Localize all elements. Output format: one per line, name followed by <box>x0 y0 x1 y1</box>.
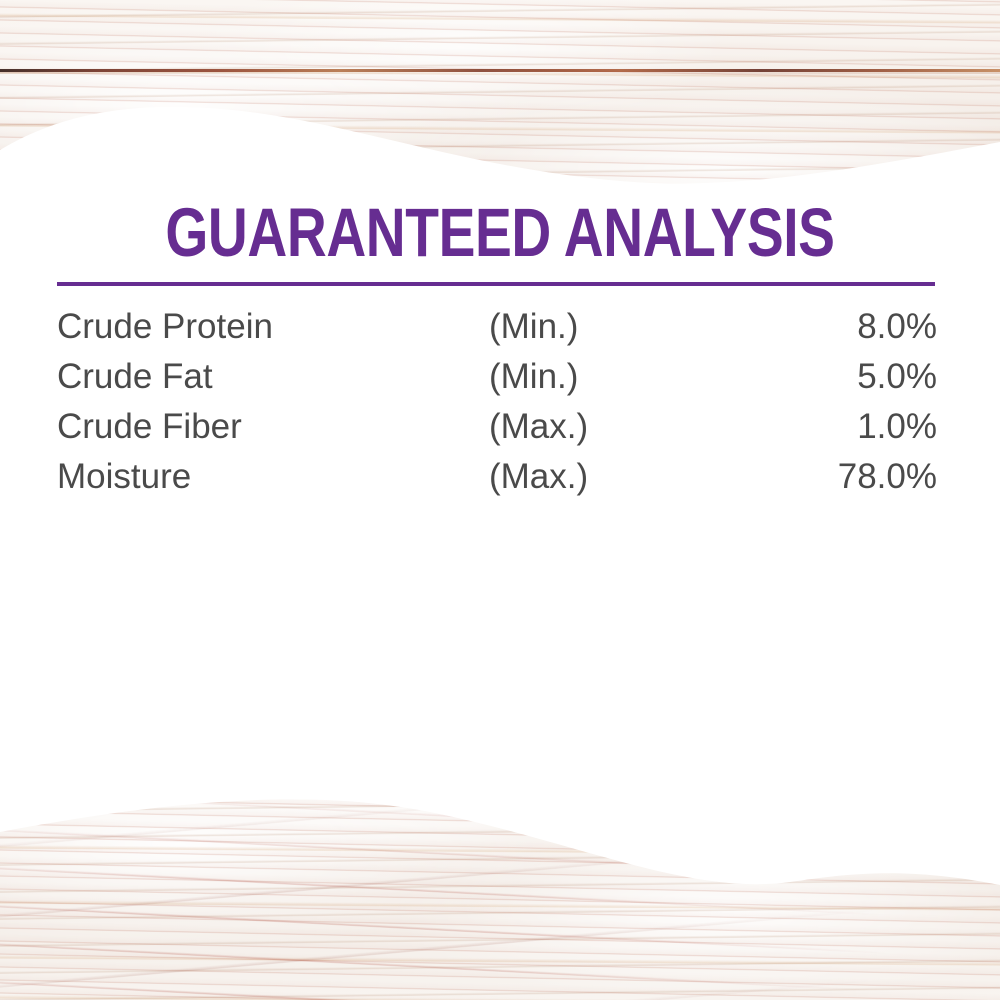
nutrient-label: Moisture <box>57 452 489 502</box>
nutrient-value: 8.0% <box>729 302 937 352</box>
nutrient-value: 1.0% <box>729 402 937 452</box>
nutrient-qualifier: (Min.) <box>489 302 729 352</box>
nutrient-value: 78.0% <box>729 452 937 502</box>
label-panel-canvas: GUARANTEED ANALYSIS Crude Protein (Min.)… <box>0 0 1000 1000</box>
guaranteed-analysis-panel: GUARANTEED ANALYSIS Crude Protein (Min.)… <box>0 190 1000 750</box>
nutrient-label: Crude Fat <box>57 352 489 402</box>
nutrient-value: 5.0% <box>729 352 937 402</box>
table-row: Crude Fiber (Max.) 1.0% <box>57 402 937 452</box>
nutrient-qualifier: (Max.) <box>489 452 729 502</box>
guaranteed-analysis-table: Crude Protein (Min.) 8.0% Crude Fat (Min… <box>57 302 937 502</box>
nutrient-label: Crude Protein <box>57 302 489 352</box>
page-title: GUARANTEED ANALYSIS <box>100 198 900 268</box>
table-row: Crude Protein (Min.) 8.0% <box>57 302 937 352</box>
table-row: Moisture (Max.) 78.0% <box>57 452 937 502</box>
nutrient-qualifier: (Max.) <box>489 402 729 452</box>
nutrient-qualifier: (Min.) <box>489 352 729 402</box>
nutrient-label: Crude Fiber <box>57 402 489 452</box>
table-row: Crude Fat (Min.) 5.0% <box>57 352 937 402</box>
title-underline-rule <box>57 282 935 286</box>
